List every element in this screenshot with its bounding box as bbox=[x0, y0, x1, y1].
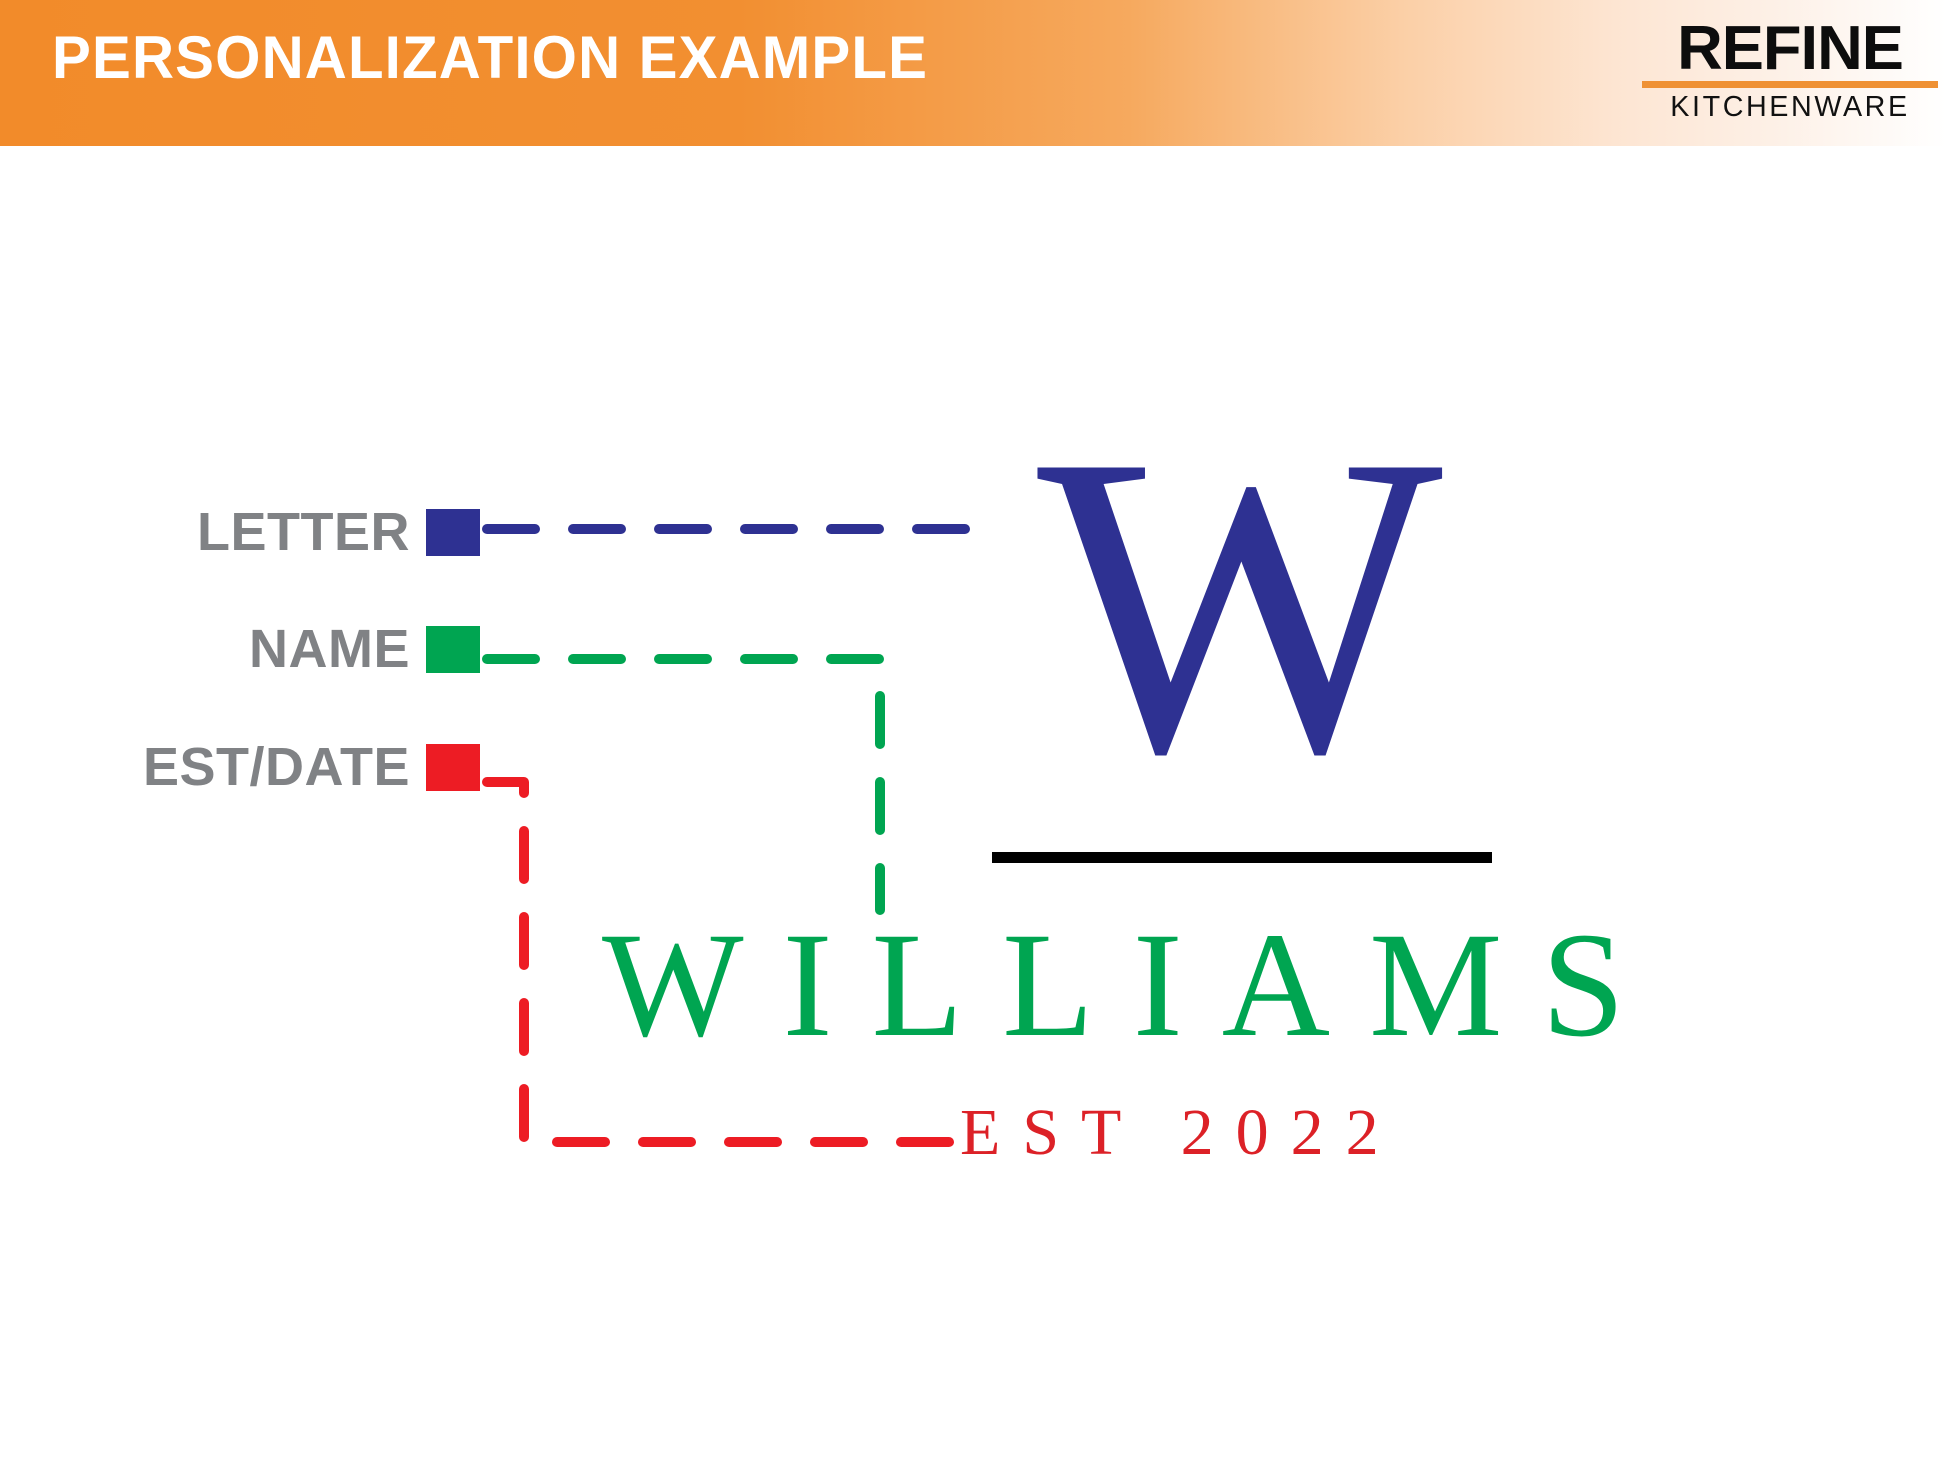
monogram-divider-rule bbox=[992, 852, 1492, 863]
legend-item-name: NAME bbox=[90, 622, 480, 676]
brand-subtitle: KITCHENWARE bbox=[1642, 93, 1939, 122]
brand-name: REFINE bbox=[1637, 20, 1943, 77]
header-bar: PERSONALIZATION EXAMPLE REFINE KITCHENWA… bbox=[0, 0, 1946, 146]
connector-lines bbox=[0, 0, 1946, 1460]
legend-label-name: NAME bbox=[249, 622, 410, 676]
brand-logo: REFINE KITCHENWARE bbox=[1640, 20, 1940, 122]
monogram-surname: WILLIAMS bbox=[600, 910, 1890, 1060]
legend-item-est-date: EST/DATE bbox=[90, 740, 480, 794]
legend-item-letter: LETTER bbox=[90, 505, 480, 559]
legend-label-letter: LETTER bbox=[197, 505, 410, 559]
legend-swatch-name bbox=[426, 626, 480, 673]
legend-swatch-letter bbox=[426, 509, 480, 556]
legend-swatch-est-date bbox=[426, 744, 480, 791]
page-title: PERSONALIZATION EXAMPLE bbox=[52, 28, 928, 88]
connector-name-line bbox=[487, 659, 880, 910]
legend-label-est-date: EST/DATE bbox=[143, 740, 410, 794]
monogram-initial: W bbox=[990, 390, 1490, 820]
monogram-established: EST 2022 bbox=[960, 1100, 1500, 1166]
